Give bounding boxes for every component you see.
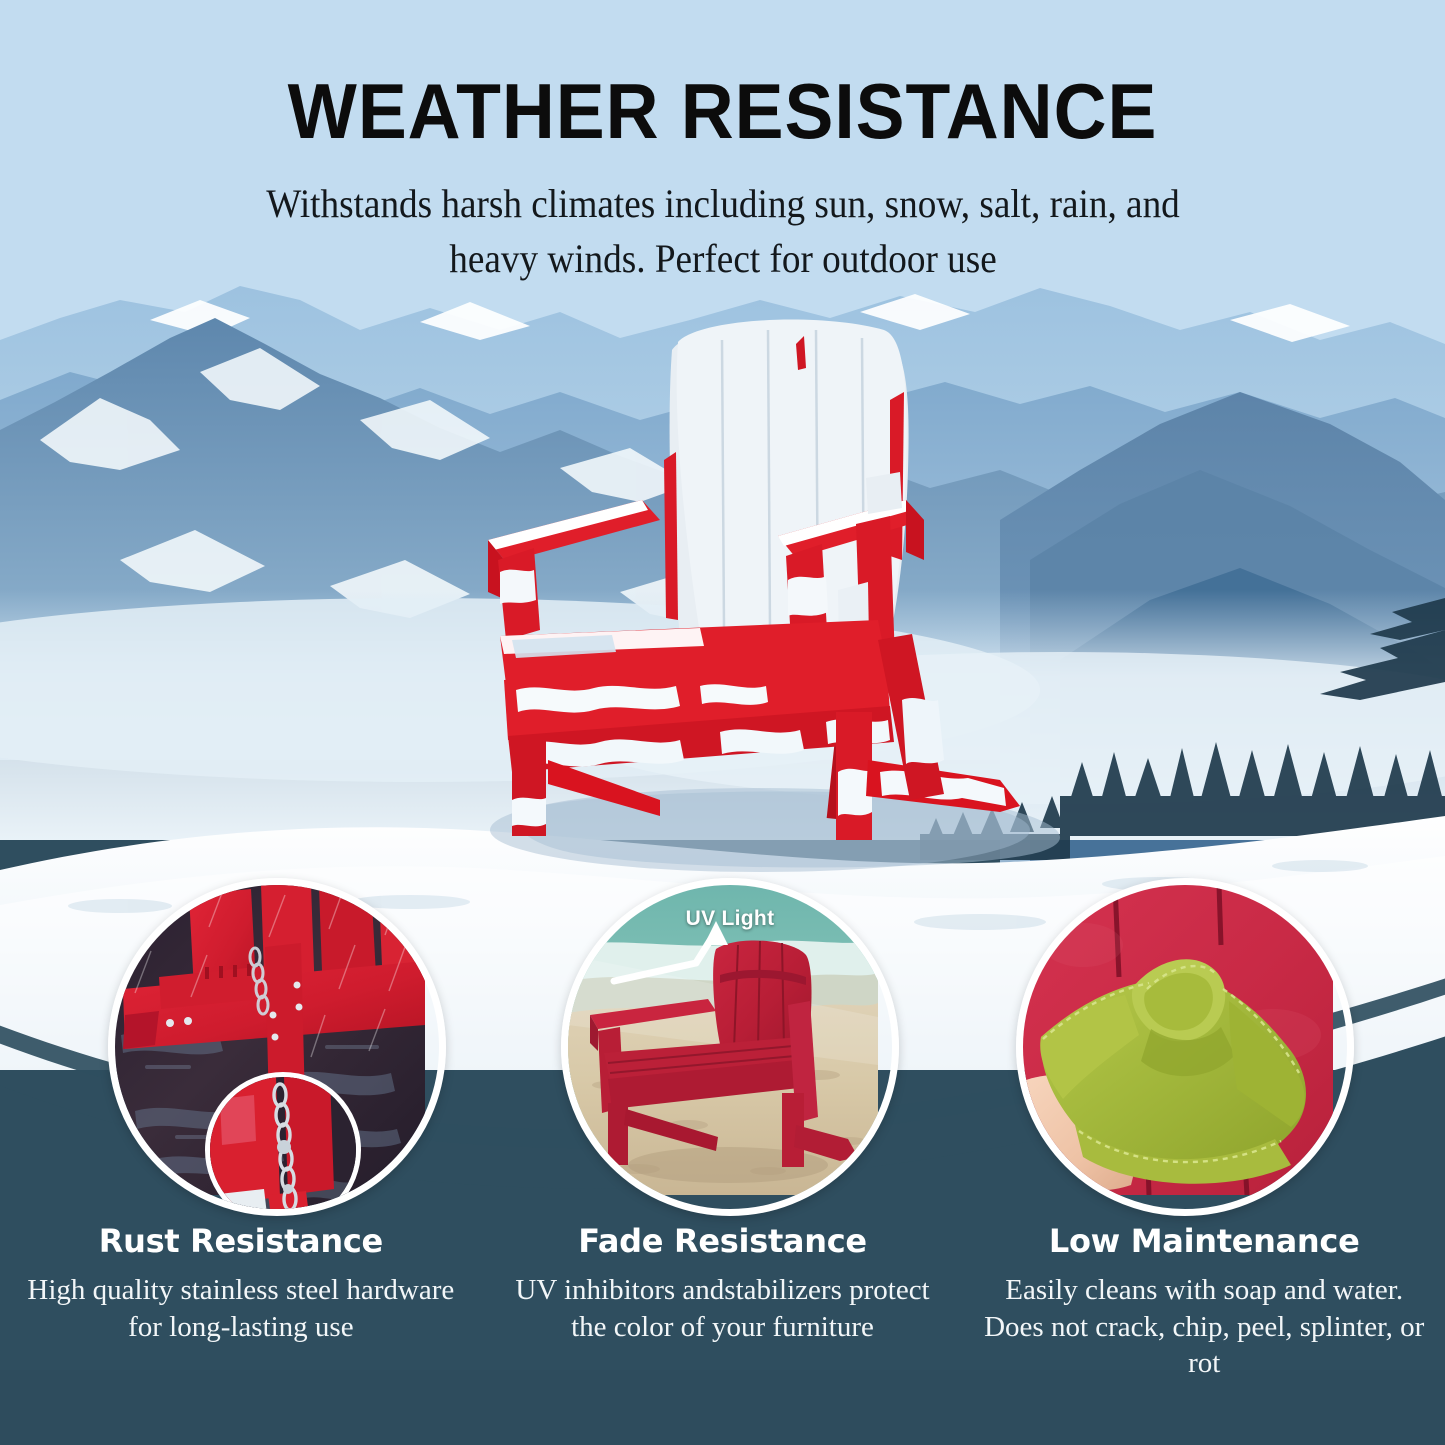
feature-body-rust-resistance: High quality stainless steel hardware fo… xyxy=(14,1272,468,1345)
feature-body-fade-resistance: UV inhibitors andstabilizers protect the… xyxy=(496,1272,950,1345)
uv-light-arrow-icon xyxy=(568,885,878,1195)
infographic-canvas: WEATHER RESISTANCE Withstands harsh clim… xyxy=(0,0,1445,1445)
feature-column-rust-resistance: Rust Resistance High quality stainless s… xyxy=(0,1222,482,1382)
page-title: WEATHER RESISTANCE xyxy=(43,0,1401,150)
feature-title-rust-resistance: Rust Resistance xyxy=(14,1222,468,1260)
feature-title-low-maintenance: Low Maintenance xyxy=(977,1222,1431,1260)
feature-column-fade-resistance: Fade Resistance UV inhibitors andstabili… xyxy=(482,1222,964,1382)
header-block: WEATHER RESISTANCE Withstands harsh clim… xyxy=(0,0,1445,286)
feature-body-low-maintenance: Easily cleans with soap and water. Does … xyxy=(977,1272,1431,1382)
feature-column-low-maintenance: Low Maintenance Easily cleans with soap … xyxy=(963,1222,1445,1382)
low-maintenance-photo xyxy=(1023,885,1347,1209)
feature-image-rust-resistance xyxy=(108,878,446,1216)
feature-image-fade-resistance: UV Light xyxy=(561,878,899,1216)
feature-title-fade-resistance: Fade Resistance xyxy=(496,1222,950,1260)
page-subtitle: Withstands harsh climates including sun,… xyxy=(258,176,1188,286)
feature-image-low-maintenance xyxy=(1016,878,1354,1216)
feature-text-row: Rust Resistance High quality stainless s… xyxy=(0,1222,1445,1382)
rust-inset-zoom xyxy=(205,1072,361,1216)
uv-light-label: UV Light xyxy=(568,907,892,931)
